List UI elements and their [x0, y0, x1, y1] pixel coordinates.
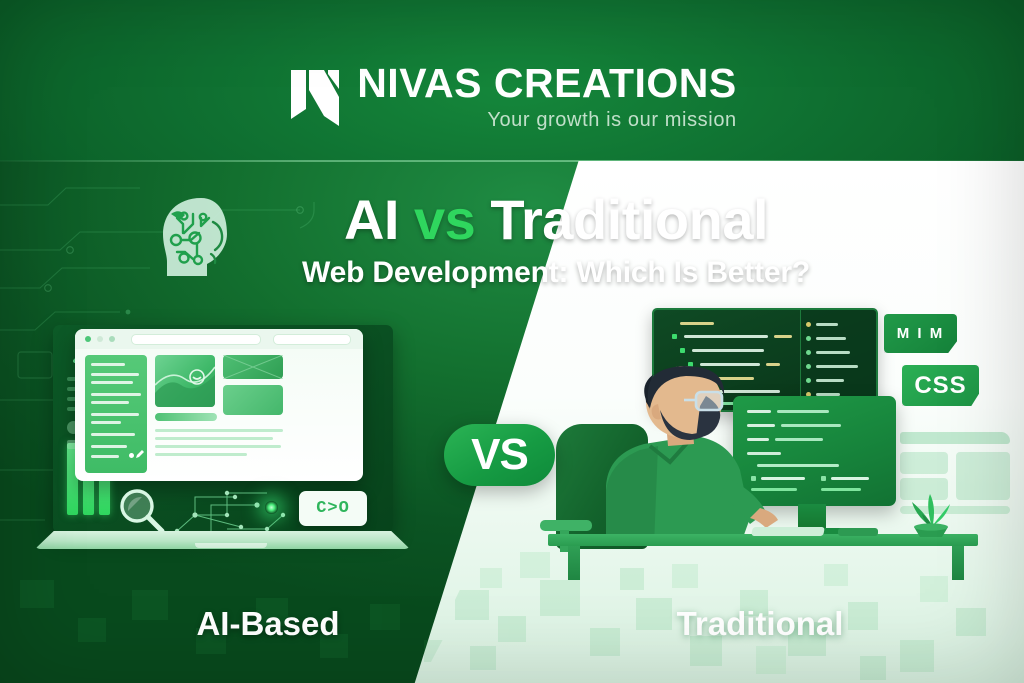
wireframe-block [900, 452, 948, 474]
wireframe-block [956, 452, 1010, 500]
laptop-trackpad-lip [195, 543, 267, 548]
vs-badge: VS [444, 424, 555, 486]
pencil-icon [135, 449, 145, 459]
page-subtitle: Web Development: Which Is Better? [0, 256, 1024, 290]
brand-name: NIVAS CREATIONS [357, 63, 737, 104]
image-placeholder-icon [223, 355, 283, 379]
potted-plant-icon [906, 494, 956, 540]
desk-leg [952, 546, 964, 580]
label-ai-based: AI-Based [118, 605, 418, 643]
glow-node-decoration [265, 501, 278, 514]
hero-image-placeholder [155, 355, 215, 407]
magnifying-glass-icon [118, 487, 166, 533]
keyboard-icon [751, 527, 825, 536]
brand-logo: NIVAS CREATIONS Your growth is our missi… [0, 55, 1024, 140]
label-traditional: Traditional [600, 605, 920, 643]
developer-person-icon [588, 366, 788, 546]
css-badge: CSS [902, 365, 979, 406]
browser-side-column [85, 355, 147, 473]
poster-canvas: NIVAS CREATIONS Your growth is our missi… [0, 0, 1024, 683]
laptop-screen: C>O [53, 325, 393, 533]
laptop-icon: C>O [35, 325, 410, 565]
brand-tagline: Your growth is our mission [357, 109, 737, 132]
desk-leg [568, 546, 580, 580]
html-badge: M I M [884, 314, 957, 353]
wireframe-header [900, 432, 1010, 444]
title-part-ai: AI [344, 188, 414, 251]
title-vs-word: vs [414, 188, 475, 251]
progress-bar [155, 413, 217, 421]
mouse-icon [838, 528, 878, 536]
content-card [223, 385, 283, 415]
browser-window-icon [75, 329, 363, 481]
title-part-traditional: Traditional [475, 188, 768, 251]
page-title: AI vs Traditional [0, 190, 1024, 250]
code-chip: C>O [299, 491, 367, 526]
nivas-n-monogram-icon [287, 67, 343, 129]
